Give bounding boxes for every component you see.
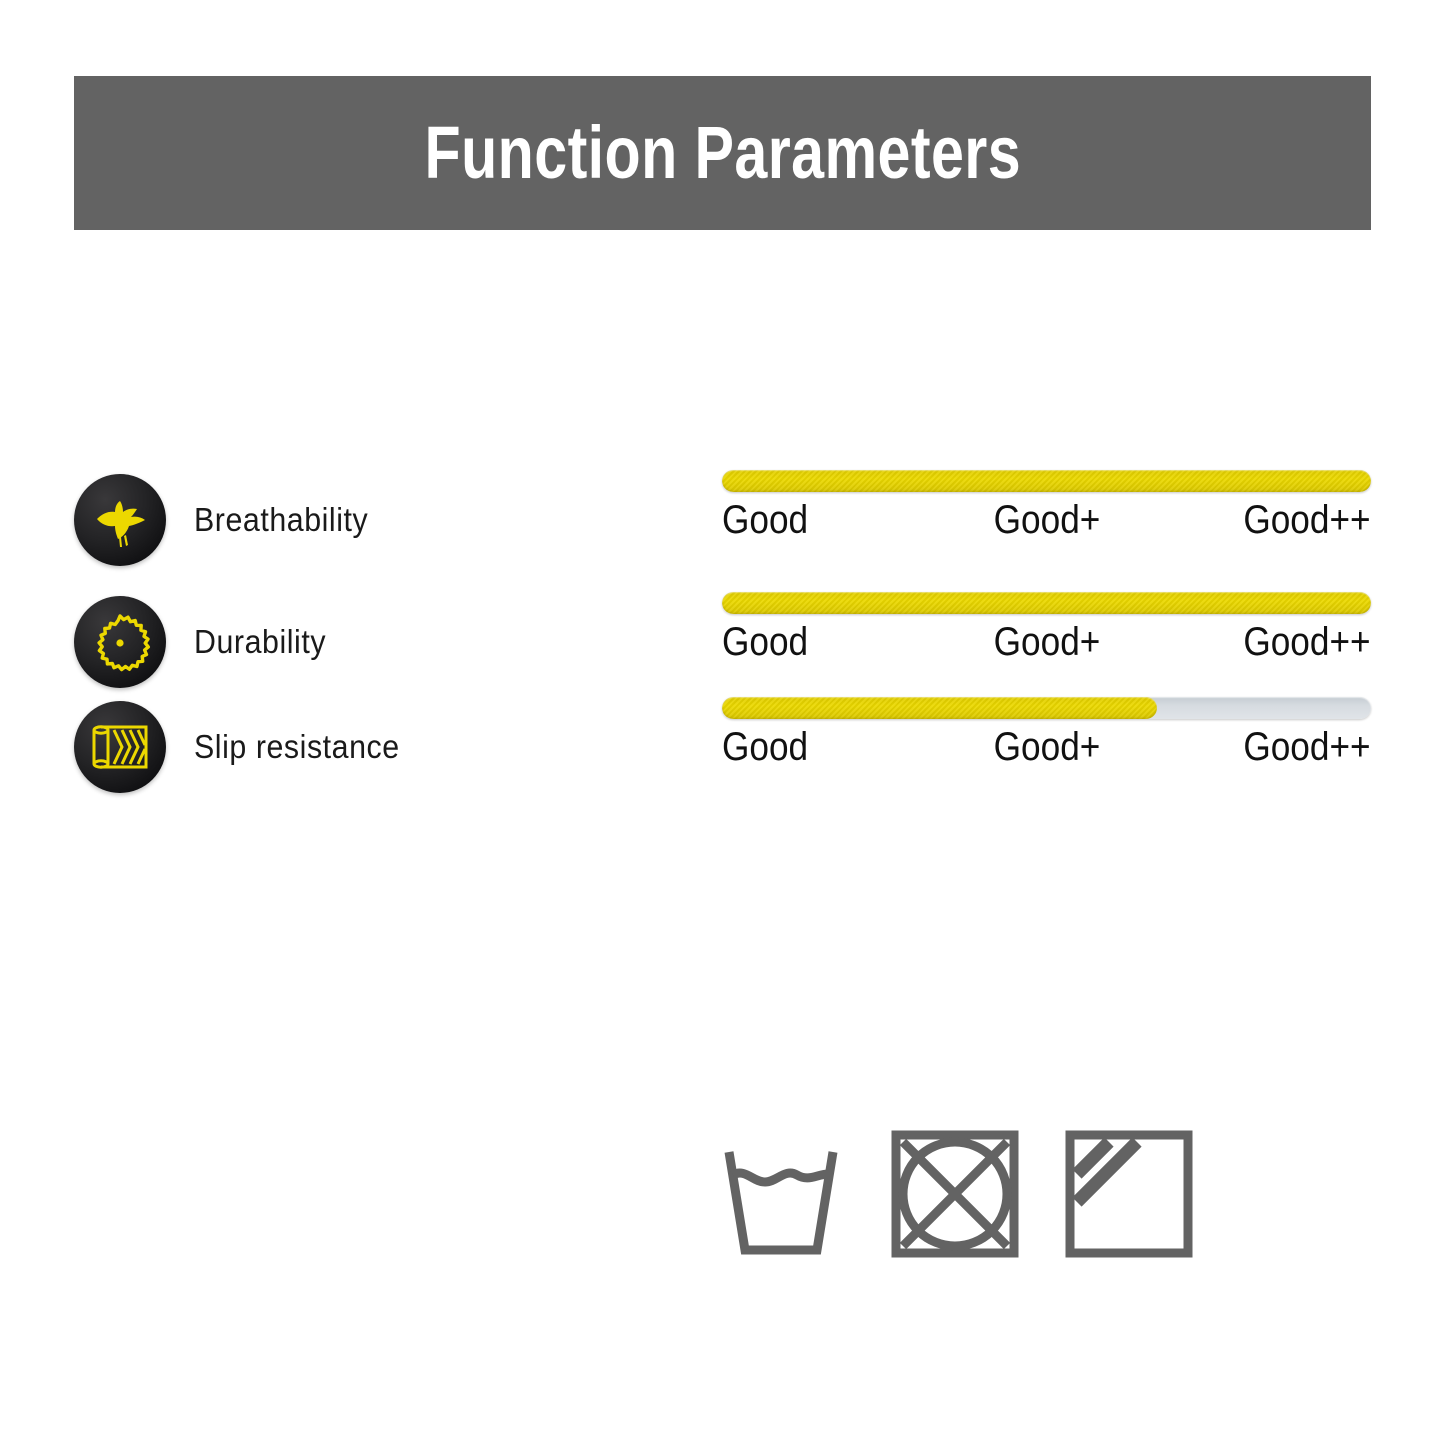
progress-fill xyxy=(722,697,1157,719)
parameter-label: Breathability xyxy=(194,501,368,539)
progress-fill xyxy=(722,592,1371,614)
scale-label-high: Good++ xyxy=(1244,727,1371,767)
parameter-left-durability: Durability xyxy=(74,592,338,692)
parameter-left-breathability: Breathability xyxy=(74,470,383,570)
parameter-meter-slip-resistance: Good Good+ Good++ xyxy=(722,697,1371,775)
bird-feather-icon xyxy=(74,474,166,566)
scale-label-low: Good xyxy=(722,727,808,767)
scale-labels: Good Good+ Good++ xyxy=(722,500,1371,548)
progress-track xyxy=(722,470,1371,492)
parameter-left-slip-resistance: Slip resistance xyxy=(74,697,418,797)
parameter-label: Durability xyxy=(194,623,326,661)
scale-label-low: Good xyxy=(722,622,808,662)
progress-track xyxy=(722,697,1371,719)
saw-blade-icon xyxy=(74,596,166,688)
scale-label-mid: Good+ xyxy=(993,622,1100,662)
scale-label-high: Good++ xyxy=(1244,500,1371,540)
do-not-tumble-dry-icon xyxy=(889,1128,1021,1260)
material-roll-tread-icon xyxy=(74,701,166,793)
parameter-meter-breathability: Good Good+ Good++ xyxy=(722,470,1371,548)
progress-track xyxy=(722,592,1371,614)
scale-labels: Good Good+ Good++ xyxy=(722,622,1371,670)
dry-in-shade-icon xyxy=(1063,1128,1195,1260)
scale-label-mid: Good+ xyxy=(993,727,1100,767)
care-symbols-group xyxy=(715,1128,1195,1260)
machine-wash-icon xyxy=(715,1128,847,1260)
scale-label-low: Good xyxy=(722,500,808,540)
progress-fill xyxy=(722,470,1371,492)
scale-label-mid: Good+ xyxy=(993,500,1100,540)
parameter-meter-durability: Good Good+ Good++ xyxy=(722,592,1371,670)
parameter-label: Slip resistance xyxy=(194,728,400,766)
scale-label-high: Good++ xyxy=(1244,622,1371,662)
scale-labels: Good Good+ Good++ xyxy=(722,727,1371,775)
